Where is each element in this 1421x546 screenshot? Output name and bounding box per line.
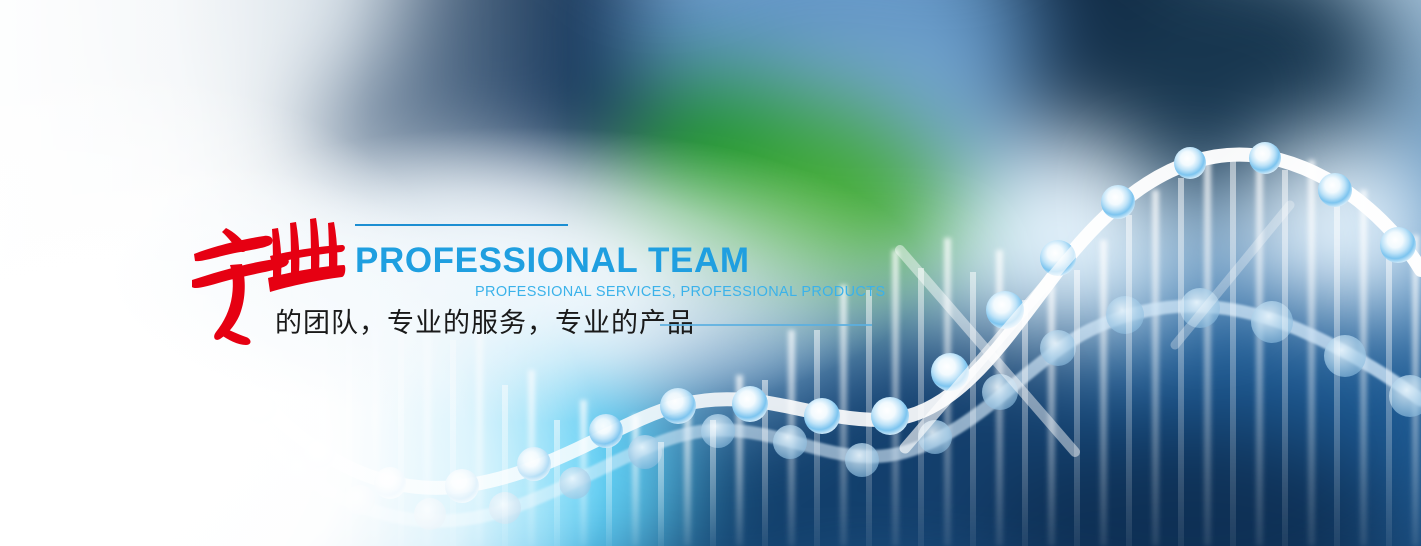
page-title: PROFESSIONAL TEAM [355, 243, 750, 278]
banner-copy-block: PROFESSIONAL TEAM PROFESSIONAL SERVICES,… [0, 0, 1421, 546]
decorative-rule-bottom [660, 324, 872, 326]
chinese-tagline: 的团队，专业的服务，专业的产品 [275, 307, 695, 341]
decorative-rule-top [355, 224, 568, 226]
professional-team-banner: PROFESSIONAL TEAM PROFESSIONAL SERVICES,… [0, 0, 1421, 546]
subtitle: PROFESSIONAL SERVICES, PROFESSIONAL PROD… [475, 285, 885, 300]
